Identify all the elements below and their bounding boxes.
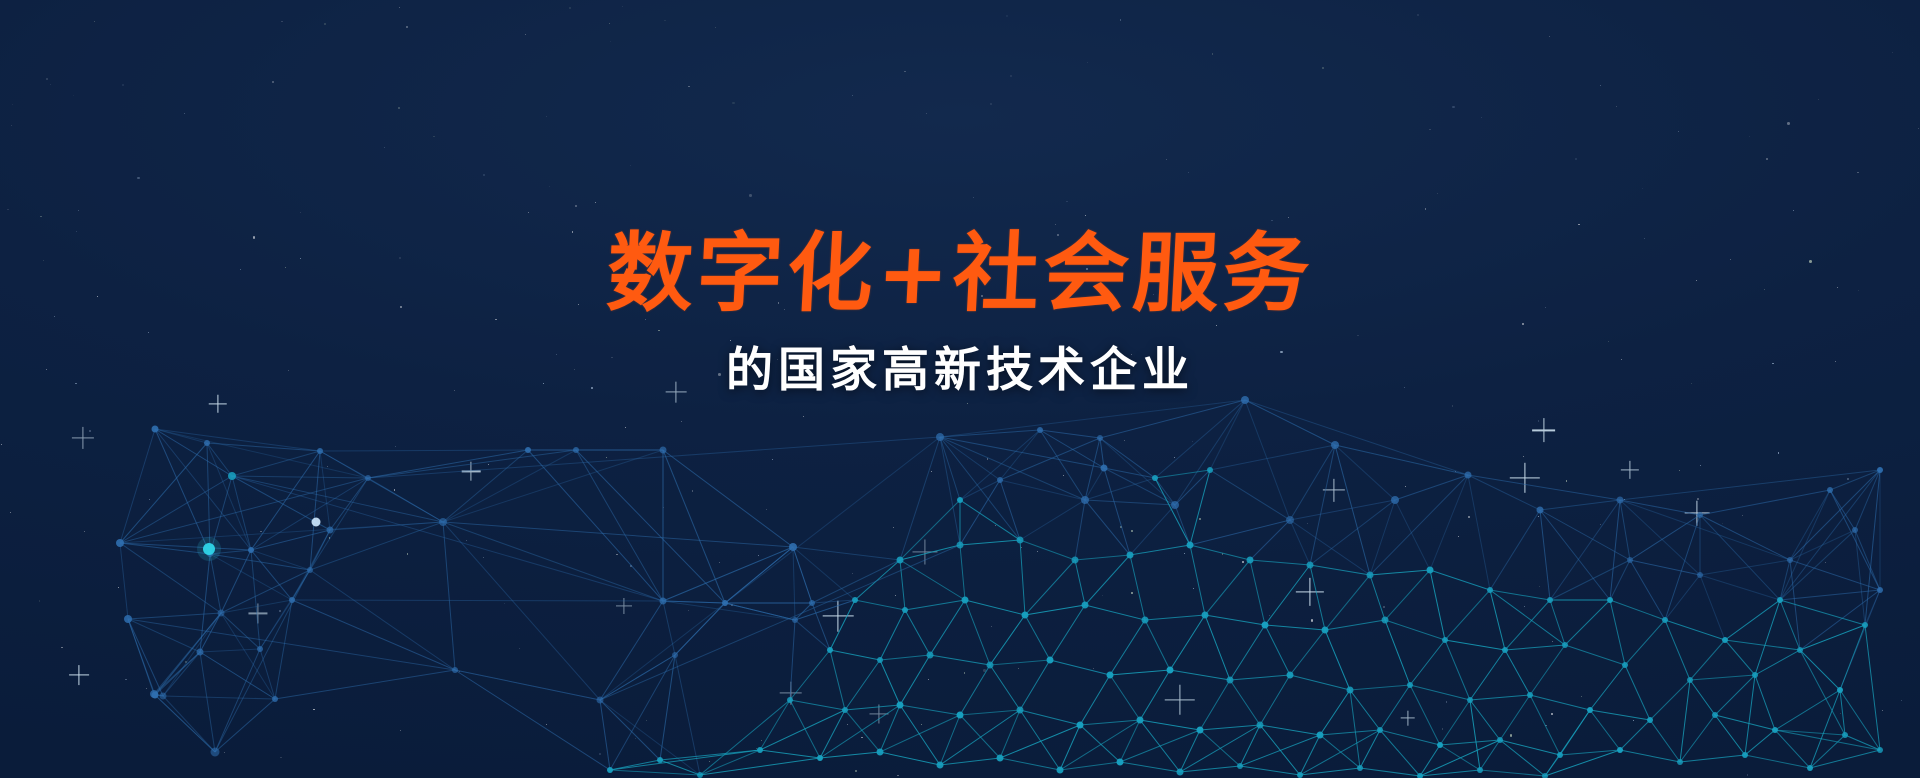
hero-banner: 数字化+社会服务 的国家高新技术企业 [0, 0, 1920, 778]
page-title: 数字化+社会服务 [605, 228, 1316, 321]
title-block: 数字化+社会服务 的国家高新技术企业 [607, 228, 1313, 399]
page-subtitle: 的国家高新技术企业 [607, 343, 1313, 399]
hero-content: 数字化+社会服务 的国家高新技术企业 [0, 0, 1920, 778]
